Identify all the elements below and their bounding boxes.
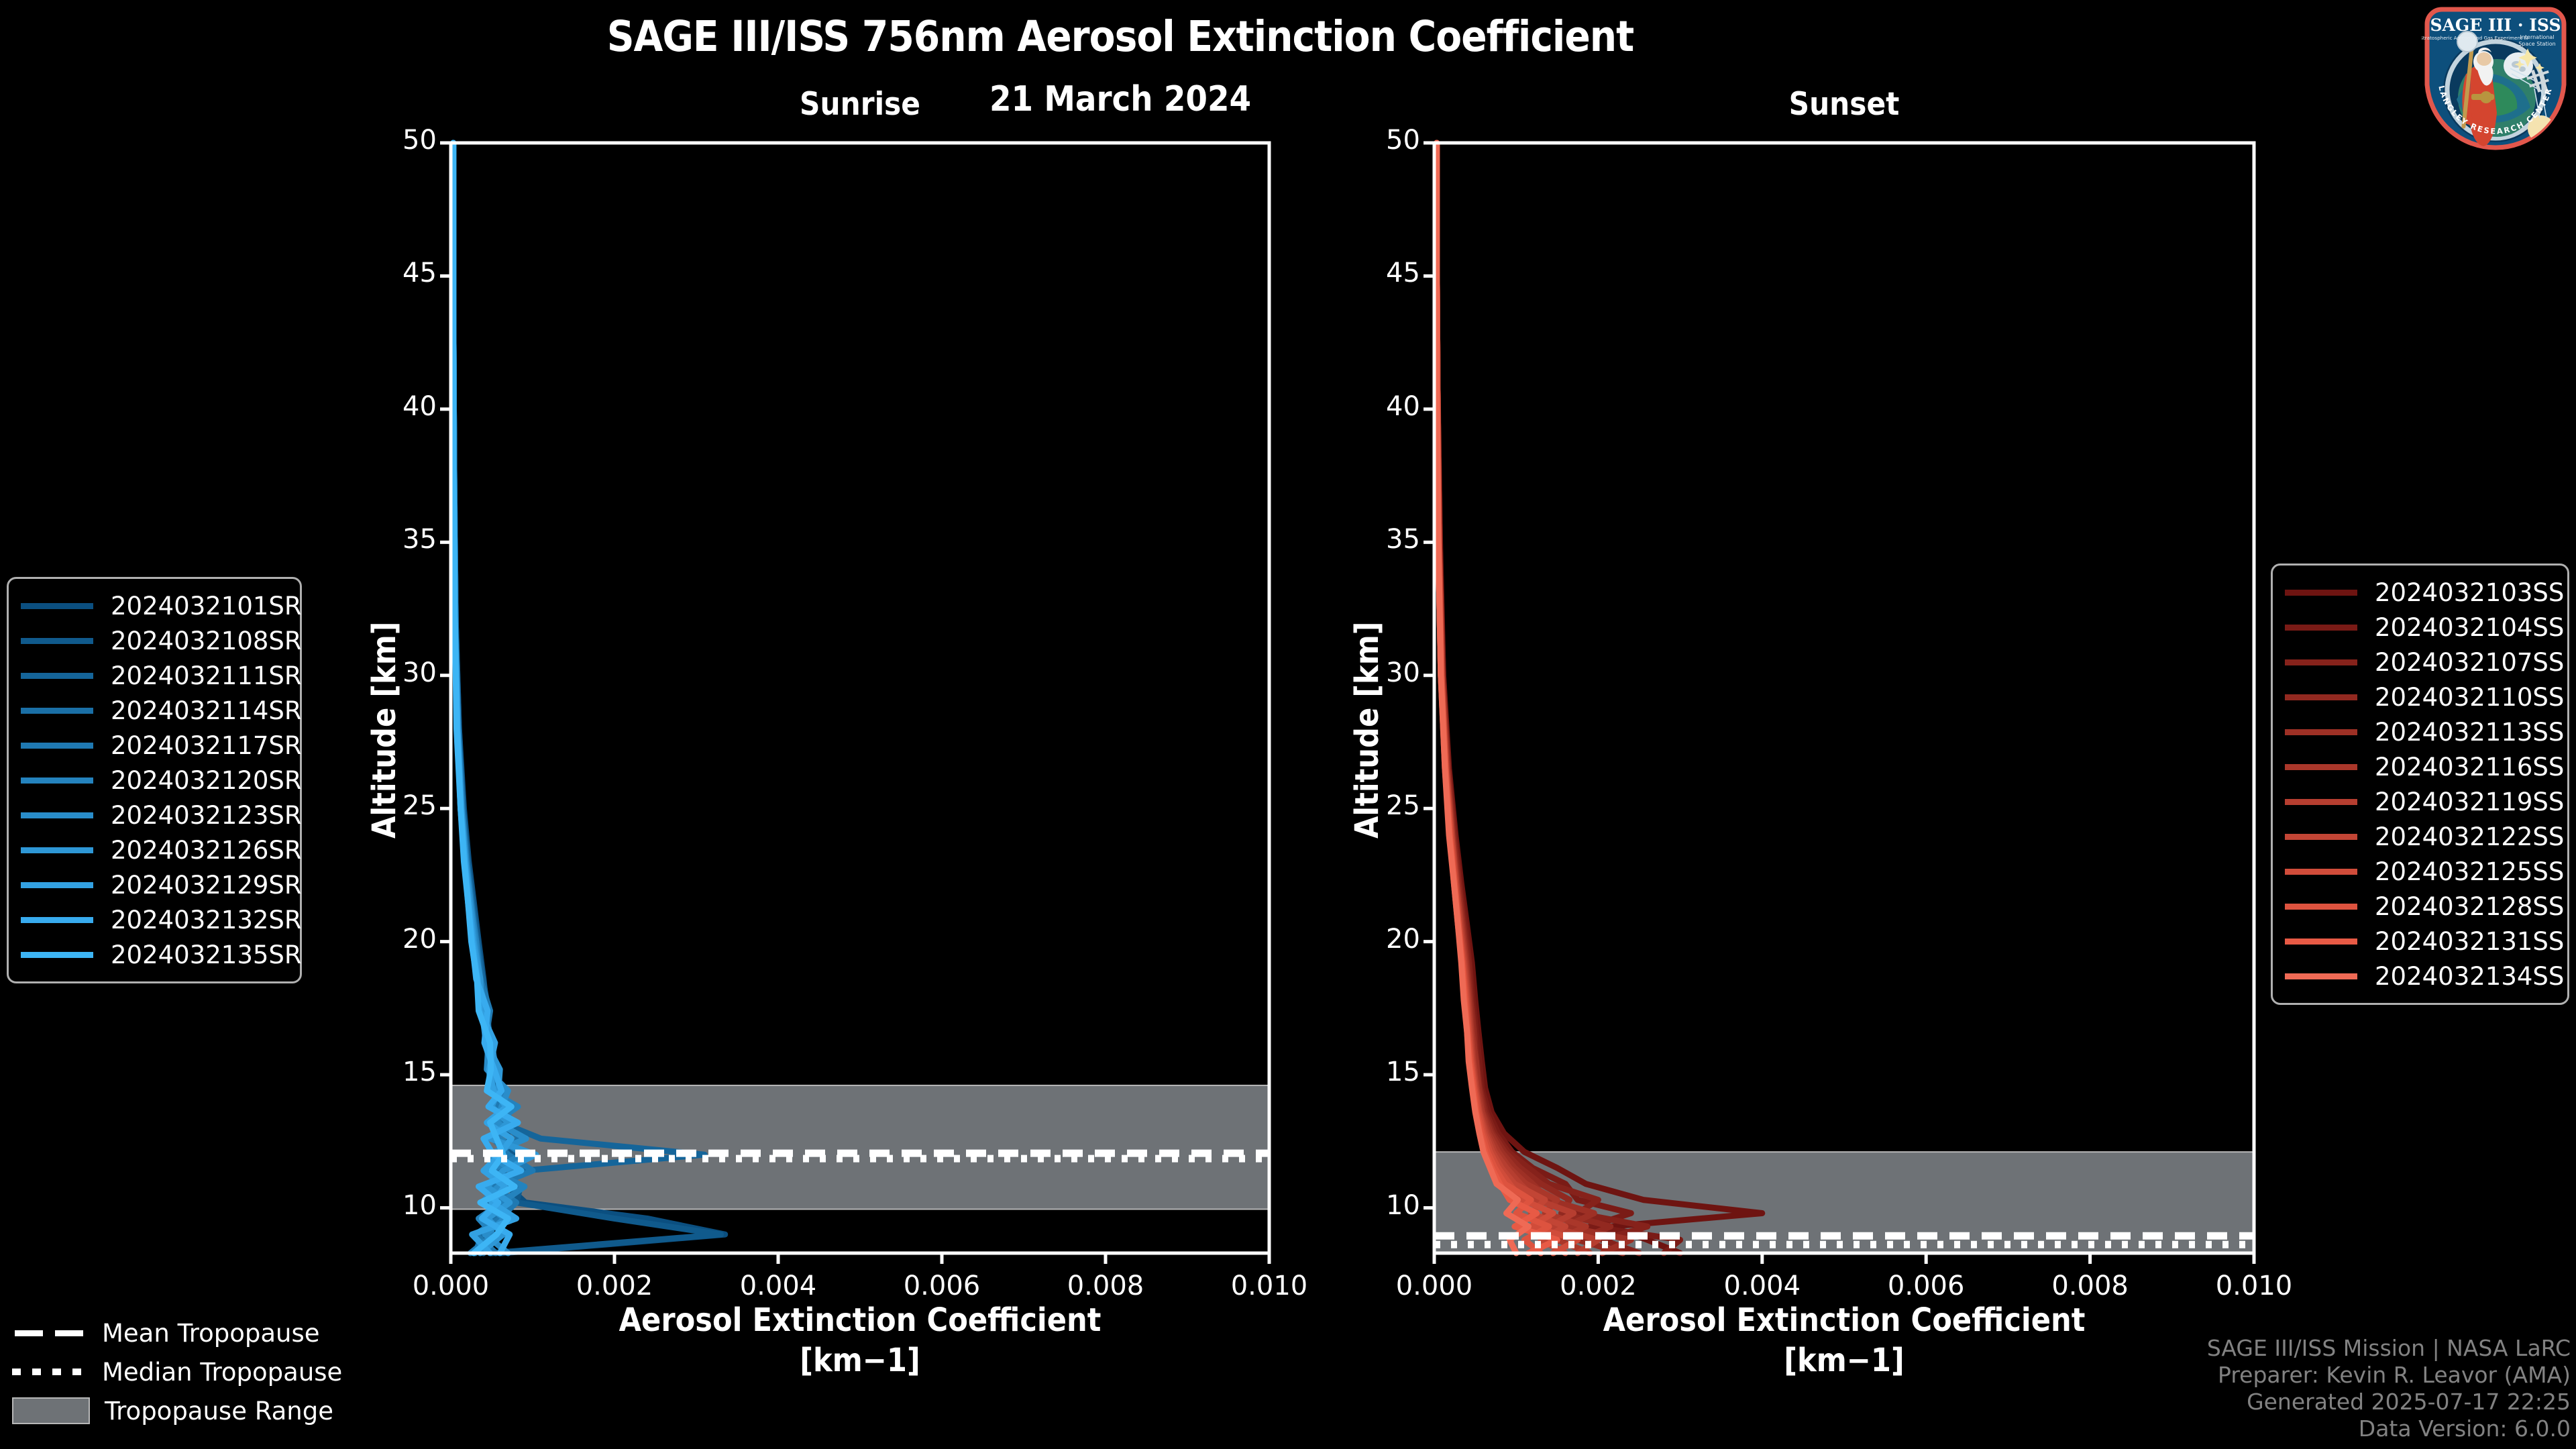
- legend-label: 2024032107SS: [2375, 648, 2564, 677]
- legend-swatch: [21, 882, 93, 888]
- legend-swatch: [21, 743, 93, 749]
- legend-swatch: [2285, 834, 2357, 840]
- legend-item[interactable]: 2024032104SS: [2285, 610, 2555, 645]
- legend-swatch: [2285, 694, 2357, 700]
- legend-item[interactable]: 2024032132SR: [21, 902, 288, 937]
- legend-label: 2024032129SR: [111, 871, 302, 900]
- x-tick-label: 0.002: [576, 1271, 653, 1301]
- panel-sunrise: [440, 143, 1269, 1264]
- tropopause-legend-label: Median Tropopause: [102, 1358, 342, 1387]
- legend-label: 2024032108SR: [111, 627, 302, 655]
- legend-tropopause: Mean TropopauseMedian TropopauseTropopau…: [12, 1313, 342, 1430]
- y-tick-label: 10: [1386, 1190, 1420, 1221]
- logo-subtitle-left: Stratospheric Aerosol and Gas Experiment…: [2422, 35, 2528, 41]
- legend-label: 2024032119SS: [2375, 788, 2564, 816]
- legend-label: 2024032110SS: [2375, 683, 2564, 712]
- credit-line: Data Version: 6.0.0: [2207, 1415, 2571, 1442]
- legend-swatch: [2285, 973, 2357, 979]
- y-tick-label: 10: [402, 1190, 437, 1221]
- legend-swatch: [21, 673, 93, 679]
- legend-label: 2024032120SR: [111, 766, 302, 795]
- y-tick-label: 40: [402, 391, 437, 422]
- tropopause-legend-label: Mean Tropopause: [102, 1319, 320, 1348]
- legend-item[interactable]: 2024032126SR: [21, 833, 288, 867]
- legend-swatch: [2285, 590, 2357, 596]
- x-tick-label: 0.002: [1559, 1271, 1637, 1301]
- legend-item[interactable]: 2024032107SS: [2285, 645, 2555, 680]
- legend-sunrise[interactable]: 2024032101SR2024032108SR2024032111SR2024…: [7, 577, 302, 983]
- y-tick-label: 45: [402, 258, 437, 288]
- legend-label: 2024032126SR: [111, 836, 302, 865]
- y-axis-label-left: Altitude [km]: [366, 622, 403, 839]
- legend-item[interactable]: 2024032122SS: [2285, 819, 2555, 854]
- x-axis-label-right: Aerosol Extinction Coefficient: [1434, 1301, 2254, 1339]
- legend-item[interactable]: 2024032108SR: [21, 623, 288, 658]
- y-tick-label: 15: [402, 1057, 437, 1087]
- y-tick-label: 40: [1386, 391, 1420, 422]
- legend-swatch: [2285, 729, 2357, 735]
- legend-label: 2024032104SS: [2375, 613, 2564, 642]
- legend-swatch: [2285, 904, 2357, 910]
- legend-swatch: [2285, 625, 2357, 631]
- y-tick-label: 35: [402, 524, 437, 555]
- legend-swatch: [21, 847, 93, 853]
- legend-swatch: [21, 638, 93, 644]
- logo-subtitle-right-1: International: [2520, 34, 2554, 40]
- legend-item[interactable]: 2024032135SR: [21, 937, 288, 972]
- legend-swatch: [2285, 764, 2357, 770]
- legend-swatch: [2285, 659, 2357, 665]
- legend-label: 2024032116SS: [2375, 753, 2564, 782]
- y-tick-label: 20: [402, 924, 437, 955]
- x-tick-label: 0.008: [2051, 1271, 2129, 1301]
- legend-label: 2024032117SR: [111, 731, 302, 760]
- legend-label: 2024032131SS: [2375, 927, 2564, 956]
- x-tick-label: 0.010: [2215, 1271, 2293, 1301]
- x-tick-label: 0.004: [739, 1271, 817, 1301]
- legend-swatch: [2285, 869, 2357, 875]
- y-tick-label: 15: [1386, 1057, 1420, 1087]
- legend-item[interactable]: 2024032119SS: [2285, 784, 2555, 819]
- legend-item[interactable]: 2024032120SR: [21, 763, 288, 798]
- tropopause-legend-item: Tropopause Range: [12, 1391, 342, 1430]
- legend-label: 2024032135SR: [111, 941, 302, 969]
- tropopause-legend-swatch: [12, 1368, 87, 1375]
- legend-item[interactable]: 2024032123SR: [21, 798, 288, 833]
- y-tick-label: 25: [402, 790, 437, 821]
- tropopause-legend-item: Mean Tropopause: [12, 1313, 342, 1352]
- legend-item[interactable]: 2024032116SS: [2285, 749, 2555, 784]
- y-tick-label: 35: [1386, 524, 1420, 555]
- tropopause-legend-label: Tropopause Range: [105, 1397, 333, 1426]
- legend-item[interactable]: 2024032110SS: [2285, 680, 2555, 714]
- tropopause-range-band: [451, 1085, 1269, 1210]
- legend-label: 2024032132SR: [111, 906, 302, 934]
- legend-label: 2024032111SR: [111, 661, 302, 690]
- x-tick-label: 0.006: [1887, 1271, 1965, 1301]
- x-tick-label: 0.000: [412, 1271, 490, 1301]
- legend-item[interactable]: 2024032101SR: [21, 588, 288, 623]
- legend-item[interactable]: 2024032114SR: [21, 693, 288, 728]
- logo-subtitle-right-2: Space Station: [2518, 41, 2555, 47]
- y-tick-label: 25: [1386, 790, 1420, 821]
- tropopause-legend-swatch: [12, 1324, 87, 1342]
- legend-label: 2024032128SS: [2375, 892, 2564, 921]
- legend-item[interactable]: 2024032129SR: [21, 867, 288, 902]
- legend-swatch: [2285, 938, 2357, 945]
- x-axis-units-right: [km−1]: [1434, 1342, 2254, 1379]
- legend-swatch: [21, 777, 93, 784]
- legend-swatch: [21, 917, 93, 923]
- legend-item[interactable]: 2024032117SR: [21, 728, 288, 763]
- legend-label: 2024032103SS: [2375, 578, 2564, 607]
- legend-label: 2024032134SS: [2375, 962, 2564, 991]
- legend-item[interactable]: 2024032111SR: [21, 658, 288, 693]
- legend-sunset[interactable]: 2024032103SS2024032104SS2024032107SS2024…: [2271, 563, 2569, 1005]
- y-tick-label: 20: [1386, 924, 1420, 955]
- x-axis-label-left: Aerosol Extinction Coefficient: [451, 1301, 1269, 1339]
- x-tick-label: 0.008: [1067, 1271, 1144, 1301]
- legend-label: 2024032122SS: [2375, 822, 2564, 851]
- legend-swatch: [21, 603, 93, 609]
- y-tick-label: 50: [402, 125, 437, 156]
- legend-item[interactable]: 2024032125SS: [2285, 854, 2555, 889]
- legend-swatch: [21, 708, 93, 714]
- credit-line: Generated 2025-07-17 22:25: [2207, 1389, 2571, 1415]
- legend-item[interactable]: 2024032131SS: [2285, 924, 2555, 959]
- legend-item[interactable]: 2024032128SS: [2285, 889, 2555, 924]
- legend-label: 2024032123SR: [111, 801, 302, 830]
- y-tick-label: 30: [402, 657, 437, 688]
- legend-item[interactable]: 2024032113SS: [2285, 714, 2555, 749]
- legend-swatch: [21, 812, 93, 818]
- legend-label: 2024032113SS: [2375, 718, 2564, 747]
- x-tick-label: 0.000: [1395, 1271, 1473, 1301]
- legend-swatch: [2285, 799, 2357, 805]
- legend-swatch: [21, 952, 93, 958]
- x-axis-units-left: [km−1]: [451, 1342, 1269, 1379]
- legend-item[interactable]: 2024032103SS: [2285, 575, 2555, 610]
- panel-sunset: [1424, 143, 2254, 1264]
- legend-item[interactable]: 2024032134SS: [2285, 959, 2555, 994]
- x-tick-label: 0.006: [903, 1271, 981, 1301]
- sage-iii-iss-logo: SAGE III · ISS Stratospheric Aerosol and…: [2422, 4, 2569, 152]
- logo-title: SAGE III · ISS: [2430, 15, 2561, 35]
- legend-label: 2024032125SS: [2375, 857, 2564, 886]
- y-tick-label: 50: [1386, 125, 1420, 156]
- credit-line: Preparer: Kevin R. Leavor (AMA): [2207, 1362, 2571, 1389]
- credit-block: SAGE III/ISS Mission | NASA LaRCPreparer…: [2207, 1335, 2571, 1442]
- plot-background: [1434, 143, 2254, 1253]
- legend-label: 2024032101SR: [111, 592, 302, 621]
- legend-label: 2024032114SR: [111, 696, 302, 725]
- y-tick-label: 45: [1386, 258, 1420, 288]
- credit-line: SAGE III/ISS Mission | NASA LaRC: [2207, 1335, 2571, 1362]
- x-tick-label: 0.010: [1230, 1271, 1308, 1301]
- y-tick-label: 30: [1386, 657, 1420, 688]
- y-axis-label-right: Altitude [km]: [1348, 622, 1386, 839]
- tropopause-legend-swatch: [12, 1397, 90, 1424]
- x-tick-label: 0.004: [1723, 1271, 1801, 1301]
- tropopause-legend-item: Median Tropopause: [12, 1352, 342, 1391]
